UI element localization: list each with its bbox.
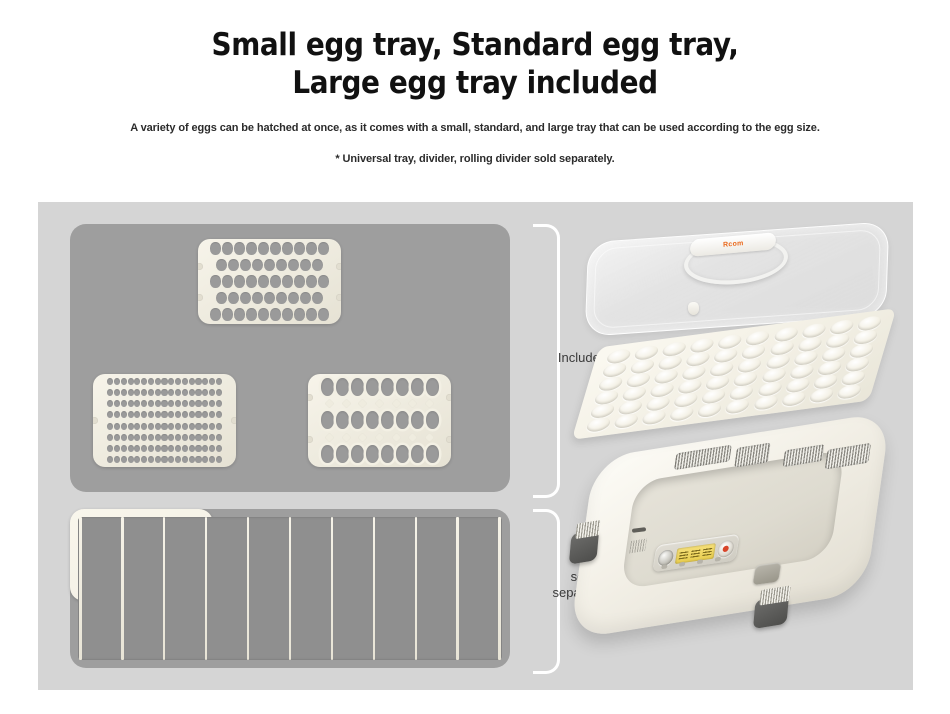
tray-hole xyxy=(318,275,329,288)
tray-hole xyxy=(202,400,208,407)
top-vent-icon xyxy=(825,443,871,470)
divider-slat xyxy=(415,517,418,660)
tray-hole xyxy=(168,434,174,441)
tray-hole xyxy=(161,445,167,452)
tray-hole xyxy=(134,389,140,396)
tray-hole xyxy=(202,434,208,441)
tray-hole xyxy=(148,456,154,463)
tray-hole xyxy=(141,445,147,452)
tray-hole xyxy=(195,445,201,452)
tray-hole xyxy=(396,411,409,429)
tray-hole xyxy=(182,400,188,407)
tray-hole xyxy=(294,242,305,255)
tray-hole xyxy=(114,389,120,396)
tray-hole xyxy=(396,445,409,463)
tray-hole xyxy=(282,242,293,255)
tray-hole xyxy=(141,456,147,463)
tray-hole xyxy=(351,445,364,463)
tray-hole xyxy=(216,434,222,441)
tray-hole xyxy=(195,389,201,396)
tray-hole xyxy=(128,445,134,452)
tray-hole-row xyxy=(107,434,222,441)
tray-hole xyxy=(107,400,113,407)
tray-hole xyxy=(216,456,222,463)
top-vent-icon xyxy=(674,445,732,470)
tray-hole xyxy=(202,411,208,418)
tray-hole xyxy=(161,411,167,418)
tray-divider-diamond xyxy=(408,432,418,442)
divider-slat xyxy=(498,517,501,660)
tray-hole xyxy=(175,434,181,441)
tray-hole xyxy=(107,411,113,418)
tray-hole xyxy=(209,411,215,418)
tray-hole xyxy=(168,423,174,430)
tray-hole xyxy=(189,434,195,441)
tray-hole xyxy=(312,259,323,272)
tray-divider-row xyxy=(326,434,433,441)
tray-hole xyxy=(195,378,201,385)
tray-divider-diamond xyxy=(358,399,368,409)
tray-hole xyxy=(336,445,349,463)
tray-hole xyxy=(216,423,222,430)
tray-hole xyxy=(288,259,299,272)
tray-diagram: Standard egg tray Small egg tray Large e… xyxy=(38,202,528,690)
tray-hole xyxy=(128,400,134,407)
tray-hole xyxy=(258,308,269,321)
tray-hole xyxy=(161,423,167,430)
tray-hole xyxy=(155,400,161,407)
divider-slat xyxy=(121,517,124,660)
tray-hole xyxy=(114,400,120,407)
tray-hole xyxy=(318,242,329,255)
tray-hole xyxy=(195,400,201,407)
tray-hole xyxy=(168,389,174,396)
tray-hole xyxy=(195,456,201,463)
tray-hole xyxy=(161,434,167,441)
headline-line-2: Large egg tray included xyxy=(0,64,950,102)
tray-hole xyxy=(216,292,227,305)
headline-line-1: Small egg tray, Standard egg tray, xyxy=(212,27,739,63)
tray-hole xyxy=(107,434,113,441)
tray-hole xyxy=(114,445,120,452)
tray-hole xyxy=(366,378,379,396)
tray-divider-diamond xyxy=(341,432,351,442)
tray-divider-diamond xyxy=(325,399,335,409)
tray-hole xyxy=(321,378,334,396)
tray-hole xyxy=(155,378,161,385)
tray3d-cup xyxy=(752,394,779,411)
tray-hole xyxy=(336,411,349,429)
tray-hole xyxy=(246,275,257,288)
tray3d-cup xyxy=(724,398,751,415)
tray-hole xyxy=(210,242,221,255)
tray-hole xyxy=(210,275,221,288)
tray-hole xyxy=(161,378,167,385)
tray-hole xyxy=(175,411,181,418)
tray-hole-row xyxy=(216,259,323,272)
tray-hole xyxy=(121,434,127,441)
tray-hole xyxy=(195,423,201,430)
tray-hole xyxy=(168,378,174,385)
divider-slat xyxy=(205,517,208,660)
tray-hole xyxy=(300,292,311,305)
tray-hole xyxy=(216,378,222,385)
tray-divider-diamond xyxy=(375,399,385,409)
tray-hole xyxy=(121,456,127,463)
tray-divider-diamond xyxy=(424,399,434,409)
tray-divider-diamond xyxy=(391,432,401,442)
tray-hole xyxy=(155,456,161,463)
tray-hole xyxy=(312,292,323,305)
tray-hole xyxy=(336,378,349,396)
tray-hole xyxy=(141,434,147,441)
tray-hole xyxy=(381,445,394,463)
tray-hole xyxy=(121,411,127,418)
tray-hole xyxy=(189,456,195,463)
tray-hole xyxy=(134,434,140,441)
tray-hole xyxy=(182,423,188,430)
tray-hole xyxy=(258,275,269,288)
tray-hole xyxy=(202,456,208,463)
tray-hole xyxy=(114,434,120,441)
tray-hole xyxy=(222,242,233,255)
tray-hole xyxy=(411,378,424,396)
tray-hole xyxy=(264,292,275,305)
tray-hole xyxy=(258,242,269,255)
subtitle-text: A variety of eggs can be hatched at once… xyxy=(0,102,950,135)
tray-hole xyxy=(128,411,134,418)
tray3d-cup xyxy=(696,402,723,419)
tray-hole xyxy=(155,445,161,452)
tray-hole xyxy=(195,434,201,441)
tray-hole xyxy=(189,445,195,452)
tray-hole-row xyxy=(210,308,329,321)
tray-hole xyxy=(426,445,439,463)
tray-hole xyxy=(175,400,181,407)
tray-hole xyxy=(264,259,275,272)
tray-hole xyxy=(141,423,147,430)
tray3d-cup xyxy=(836,383,863,400)
divider-slat xyxy=(289,517,292,660)
tray-hole xyxy=(128,378,134,385)
tray-hole xyxy=(182,445,188,452)
tray-hole xyxy=(228,259,239,272)
tray-hole xyxy=(107,378,113,385)
tray-hole-row xyxy=(321,445,439,463)
tray-hole-row xyxy=(107,456,222,463)
tray-hole xyxy=(141,389,147,396)
product-figure: Standard egg tray Small egg tray Large e… xyxy=(38,202,913,690)
tray-hole xyxy=(252,292,263,305)
base-shell xyxy=(569,411,891,639)
tray-hole xyxy=(396,378,409,396)
tray-hole xyxy=(148,434,154,441)
tray-hole xyxy=(276,259,287,272)
tray-hole xyxy=(209,400,215,407)
tray-hole xyxy=(189,423,195,430)
tray-hole xyxy=(222,308,233,321)
tray-hole xyxy=(202,423,208,430)
tray-hole-row xyxy=(107,400,222,407)
tray-hole xyxy=(148,389,154,396)
tray-hole-row xyxy=(107,423,222,430)
tray-hole-row xyxy=(210,242,329,255)
divider-slat xyxy=(373,517,376,660)
tray-hole xyxy=(114,411,120,418)
tray-hole xyxy=(234,275,245,288)
tray-hole xyxy=(294,275,305,288)
product-photos: Rcom xyxy=(558,202,913,690)
tray-hole xyxy=(161,389,167,396)
tray-hole xyxy=(128,434,134,441)
tray-hole xyxy=(121,389,127,396)
tray-divider-diamond xyxy=(408,399,418,409)
tray-hole xyxy=(148,411,154,418)
tray-hole xyxy=(155,423,161,430)
tray-hole xyxy=(114,423,120,430)
tray-hole xyxy=(276,292,287,305)
tray-hole xyxy=(209,456,215,463)
tray-hole xyxy=(107,389,113,396)
tray-divider-diamond xyxy=(358,432,368,442)
tray-hole xyxy=(168,400,174,407)
universal-tray-area xyxy=(70,509,510,668)
incubator-base xyxy=(558,420,913,682)
tray-divider-row xyxy=(326,400,433,407)
tray-hole xyxy=(411,411,424,429)
tray-hole xyxy=(426,378,439,396)
tray-hole xyxy=(134,445,140,452)
tray-hole xyxy=(107,445,113,452)
tray-hole xyxy=(294,308,305,321)
tray-hole xyxy=(182,411,188,418)
divider-slat xyxy=(79,517,82,660)
tray-hole xyxy=(270,275,281,288)
tray-hole xyxy=(282,308,293,321)
tray-hole xyxy=(128,423,134,430)
note-text: * Universal tray, divider, rolling divid… xyxy=(0,135,950,166)
tray-hole xyxy=(222,275,233,288)
tray-hole xyxy=(148,445,154,452)
tray-hole xyxy=(306,275,317,288)
tray-hole xyxy=(161,456,167,463)
tray-hole xyxy=(189,411,195,418)
tray-hole-row xyxy=(107,445,222,452)
tray-hole xyxy=(148,423,154,430)
standard-egg-tray xyxy=(198,239,341,324)
tray-hole xyxy=(366,445,379,463)
tray-hole xyxy=(175,389,181,396)
tray3d-cup xyxy=(780,391,807,408)
tray-hole xyxy=(216,445,222,452)
tray-hole-row xyxy=(107,411,222,418)
tray-hole xyxy=(306,308,317,321)
tray-hole xyxy=(366,411,379,429)
tray-hole xyxy=(114,378,120,385)
tray-hole xyxy=(128,456,134,463)
tray-hole xyxy=(189,378,195,385)
tray-hole xyxy=(141,400,147,407)
tray-hole xyxy=(168,411,174,418)
tray-hole xyxy=(234,242,245,255)
tray-hole xyxy=(426,411,439,429)
tray-hole xyxy=(216,400,222,407)
tray-hole xyxy=(161,400,167,407)
tray-hole xyxy=(216,259,227,272)
tray-hole xyxy=(155,434,161,441)
tray-hole xyxy=(141,378,147,385)
tray-hole xyxy=(175,423,181,430)
large-egg-tray xyxy=(308,374,451,467)
tray-hole xyxy=(209,423,215,430)
tray-hole xyxy=(351,411,364,429)
tray-hole xyxy=(189,400,195,407)
tray-hole xyxy=(155,389,161,396)
tray-hole xyxy=(182,434,188,441)
tray-hole xyxy=(209,378,215,385)
tray-hole xyxy=(189,389,195,396)
tray-hole xyxy=(155,411,161,418)
tray-hole xyxy=(411,445,424,463)
tray-hole xyxy=(134,400,140,407)
tray-hole-row xyxy=(321,378,439,396)
tray3d-cup xyxy=(808,387,835,404)
tray-hole-row xyxy=(107,389,222,396)
tray-hole-row xyxy=(210,275,329,288)
tray-hole xyxy=(107,423,113,430)
tray-hole xyxy=(252,259,263,272)
tray-hole xyxy=(114,456,120,463)
tray-hole-row xyxy=(321,411,439,429)
tray-hole xyxy=(121,445,127,452)
divider-slat xyxy=(247,517,250,660)
tray-hole xyxy=(318,308,329,321)
tray-hole xyxy=(134,378,140,385)
tray-hole xyxy=(168,456,174,463)
tray-divider-diamond xyxy=(391,399,401,409)
tray-hole xyxy=(134,456,140,463)
tray-hole xyxy=(107,456,113,463)
tray-hole xyxy=(210,308,221,321)
tray-hole xyxy=(121,423,127,430)
tray-hole-row xyxy=(216,292,323,305)
tray-hole xyxy=(209,445,215,452)
tray-hole xyxy=(182,389,188,396)
tray-hole xyxy=(128,389,134,396)
tray-hole xyxy=(121,378,127,385)
tray-hole xyxy=(240,259,251,272)
tray-hole xyxy=(282,275,293,288)
tray-hole xyxy=(168,445,174,452)
tray-hole xyxy=(240,292,251,305)
tray-hole xyxy=(121,400,127,407)
tray-divider-diamond xyxy=(375,432,385,442)
tray-hole xyxy=(141,411,147,418)
tray-hole xyxy=(175,378,181,385)
tray-hole xyxy=(216,411,222,418)
tray-hole xyxy=(228,292,239,305)
tray-hole xyxy=(306,242,317,255)
tray-hole xyxy=(209,389,215,396)
tray-hole xyxy=(148,378,154,385)
tray-hole xyxy=(182,378,188,385)
tray-hole xyxy=(202,445,208,452)
tray-hole xyxy=(134,423,140,430)
page-title: Small egg tray, Standard egg tray, Large… xyxy=(0,26,950,102)
tray-hole xyxy=(234,308,245,321)
tray-hole xyxy=(148,400,154,407)
tray-hole xyxy=(351,378,364,396)
divider-slat xyxy=(331,517,334,660)
tray-hole-row xyxy=(107,378,222,385)
tray-divider-diamond xyxy=(325,432,335,442)
tray-hole xyxy=(381,378,394,396)
tray-divider-diamond xyxy=(424,432,434,442)
tray-divider-diamond xyxy=(341,399,351,409)
tray-hole xyxy=(202,389,208,396)
tray-hole xyxy=(381,411,394,429)
tray-hole xyxy=(246,308,257,321)
tray-hole xyxy=(270,242,281,255)
small-egg-tray xyxy=(93,374,236,467)
divider-slat xyxy=(163,517,166,660)
tray-hole xyxy=(182,456,188,463)
tray-hole xyxy=(321,411,334,429)
tray-hole xyxy=(321,445,334,463)
tray-hole xyxy=(216,389,222,396)
tray-hole xyxy=(175,456,181,463)
tray-hole xyxy=(270,308,281,321)
tray-hole xyxy=(202,378,208,385)
tray-hole xyxy=(288,292,299,305)
tray-hole xyxy=(300,259,311,272)
tray-hole xyxy=(134,411,140,418)
tray-hole xyxy=(175,445,181,452)
tray-hole xyxy=(195,411,201,418)
power-button[interactable] xyxy=(716,539,734,558)
brand-logo: Rcom xyxy=(723,240,744,249)
divider-slat xyxy=(456,517,459,660)
page-header: Small egg tray, Standard egg tray, Large… xyxy=(0,0,950,166)
universal-tray-with-divider xyxy=(70,509,213,601)
tray-hole xyxy=(209,434,215,441)
tray-hole xyxy=(246,242,257,255)
